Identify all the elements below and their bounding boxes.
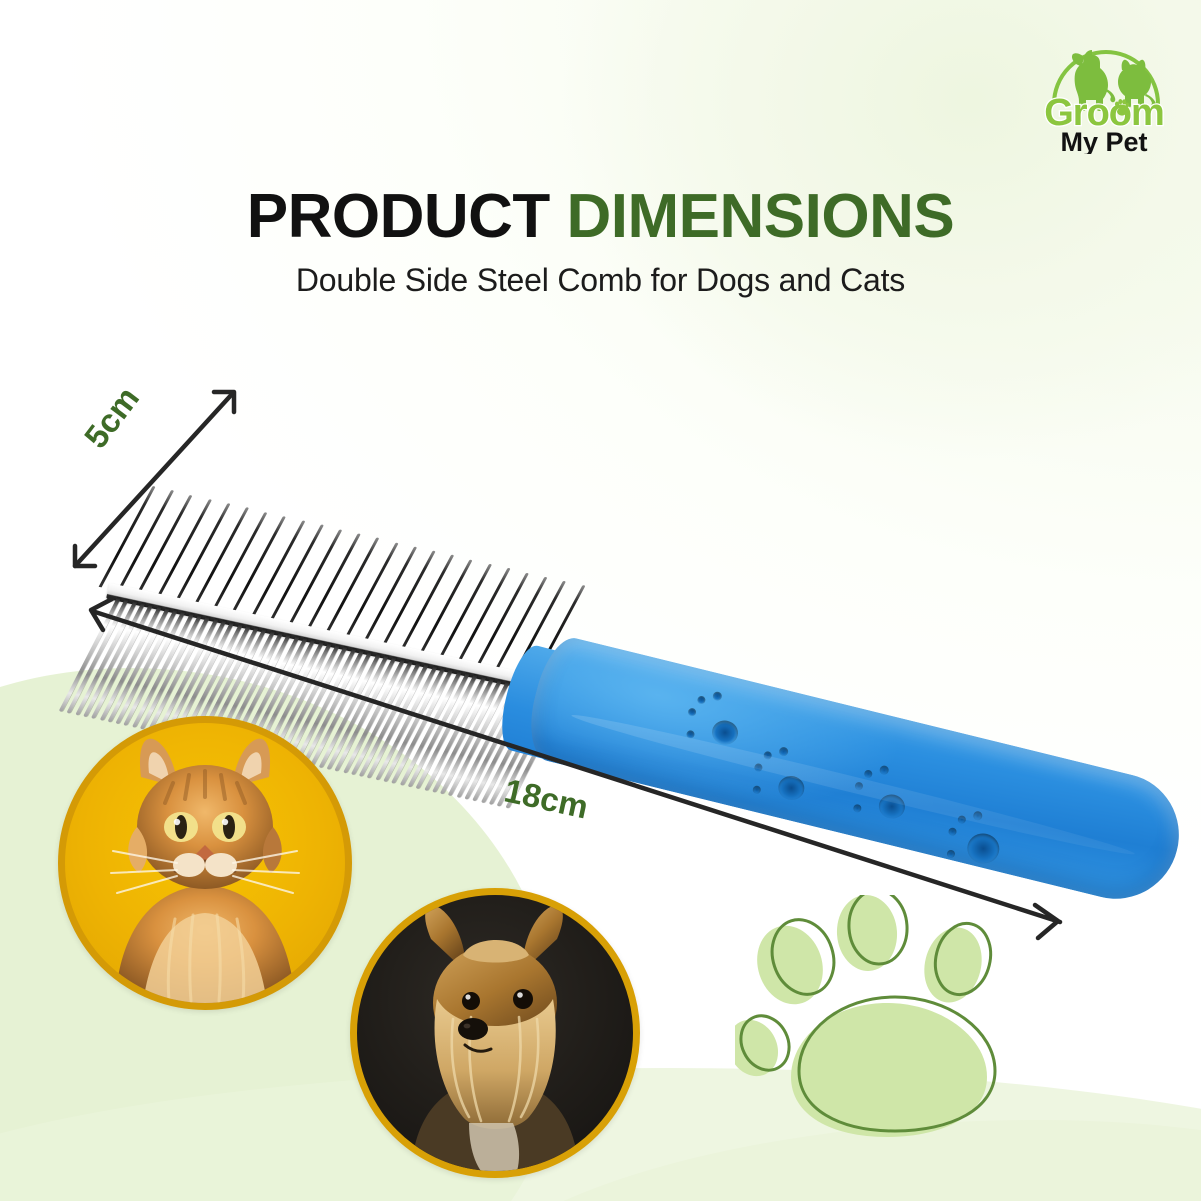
brand-logo: Groom My Pet [1018,22,1190,154]
paw-fill-shapes [735,895,989,1137]
pet-photo-dog [350,888,640,1178]
infographic-canvas: Groom My Pet PRODUCT DIMENSIONS Double S… [0,0,1201,1201]
page-title: PRODUCT DIMENSIONS [0,185,1201,248]
page-title-part1: PRODUCT [247,182,550,251]
handle-paw-dimple [847,759,914,823]
page-subtitle: Double Side Steel Comb for Dogs and Cats [0,262,1201,299]
handle-paw-dimple [746,741,813,805]
handle-paw-dimple [940,805,1007,869]
logo-wordmark-mypet: My Pet [1060,127,1147,154]
comb-handle [520,632,1192,911]
handle-paw-dimple [680,686,747,750]
pet-photo-cat [58,716,352,1010]
title-block: PRODUCT DIMENSIONS Double Side Steel Com… [0,185,1201,299]
page-title-part2: DIMENSIONS [567,182,955,251]
paw-print-decoration [735,895,1035,1145]
